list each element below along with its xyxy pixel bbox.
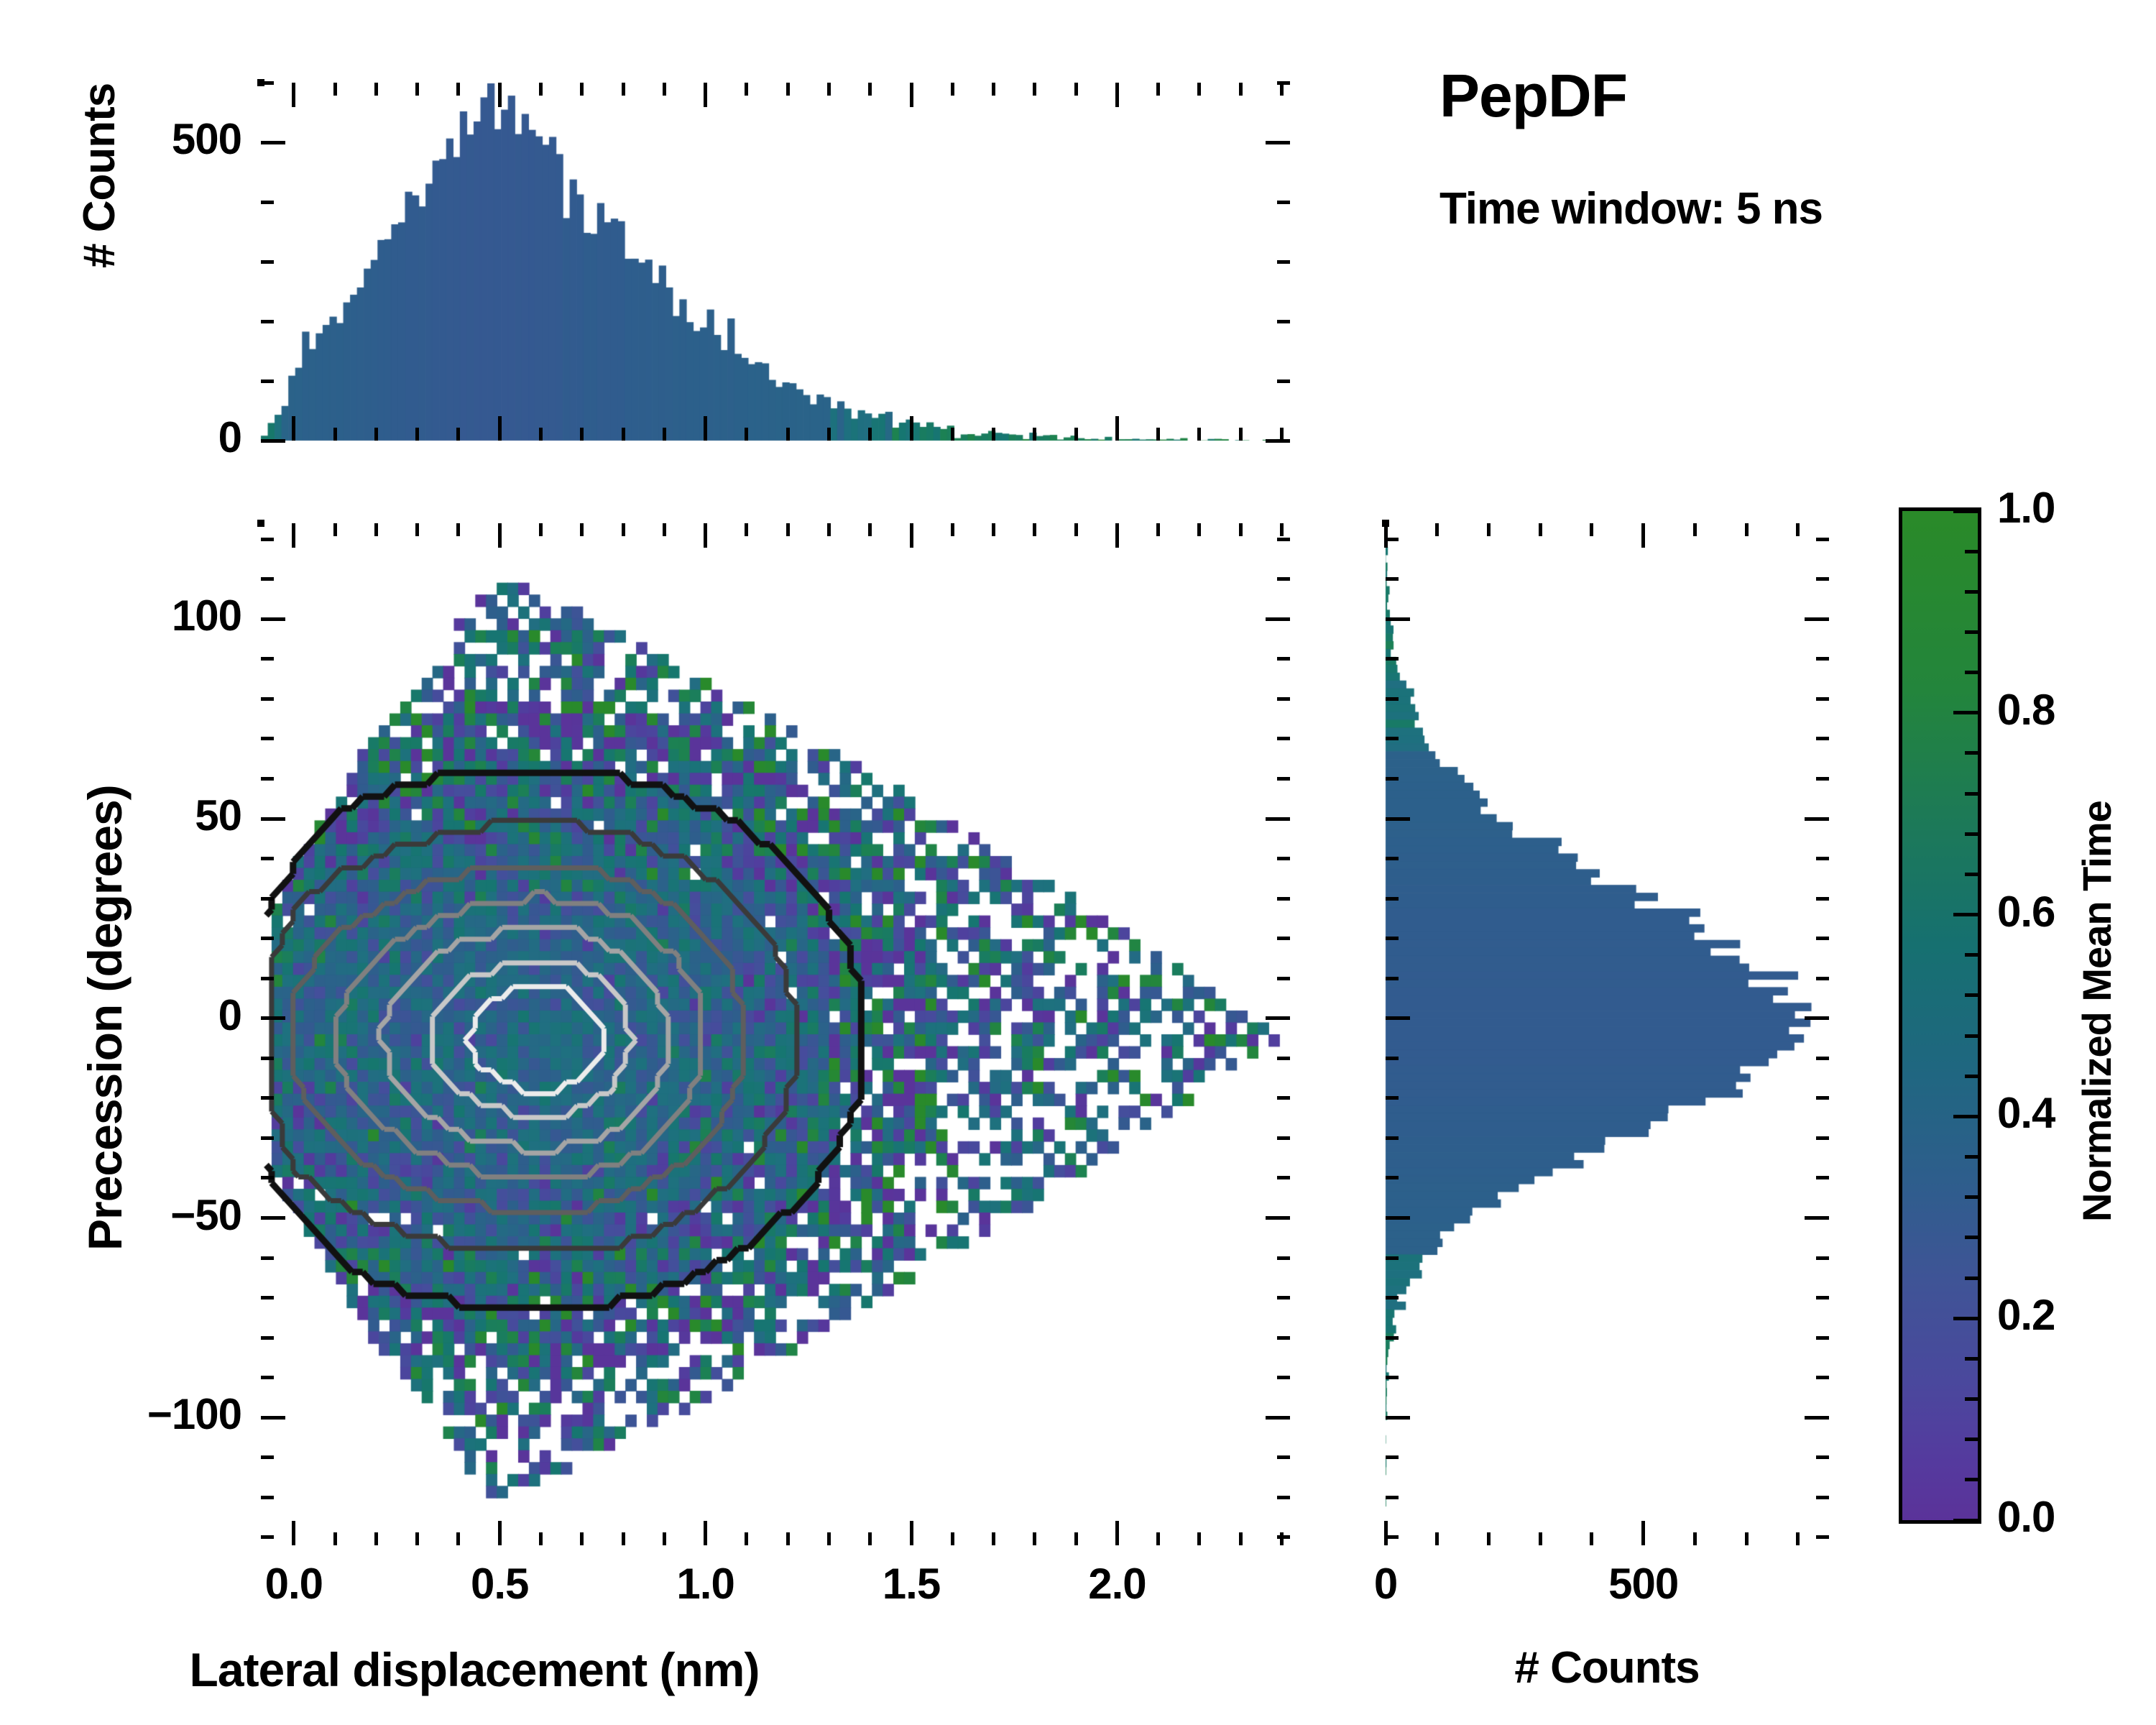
- tick-mark: [292, 1521, 295, 1545]
- tick-mark: [1435, 523, 1439, 536]
- tick-mark: [1277, 1256, 1290, 1260]
- tick-mark: [1384, 1521, 1388, 1545]
- tick-mark: [910, 416, 913, 441]
- tick-mark: [498, 83, 502, 107]
- tick-mark: [580, 83, 584, 96]
- tick-mark: [1386, 1416, 1410, 1420]
- tick-mark: [333, 1532, 337, 1545]
- side-histogram-x-axis-title: # Counts: [1514, 1642, 1699, 1693]
- tick-mark: [868, 428, 872, 441]
- tick-mark: [786, 1532, 790, 1545]
- tick-mark: [1115, 416, 1119, 441]
- tick-mark: [1953, 913, 1978, 916]
- tick-mark: [1386, 577, 1399, 581]
- tick-mark: [456, 428, 460, 441]
- tick-mark: [1277, 1535, 1290, 1539]
- tick-mark: [261, 1296, 274, 1299]
- tick-label: 0.4: [1997, 1088, 2055, 1138]
- tick-mark: [1816, 538, 1829, 541]
- tick-mark: [1386, 1455, 1399, 1459]
- tick-label: 1.5: [883, 1559, 940, 1609]
- top-histogram-y-axis-title: # Counts: [74, 83, 125, 268]
- tick-mark: [456, 83, 460, 96]
- tick-mark: [1277, 379, 1290, 383]
- tick-mark: [374, 428, 378, 441]
- tick-label: 2.0: [1088, 1559, 1146, 1609]
- tick-mark: [1965, 1437, 1978, 1441]
- tick-mark: [580, 428, 584, 441]
- tick-mark: [1693, 523, 1697, 536]
- tick-mark: [745, 523, 748, 536]
- tick-mark: [786, 83, 790, 96]
- tick-mark: [1277, 697, 1290, 701]
- tick-mark: [1539, 1532, 1542, 1545]
- tick-mark: [1805, 1216, 1829, 1220]
- tick-mark: [1386, 1057, 1399, 1060]
- colorbar: [1899, 507, 1981, 1524]
- top-histogram-plot: [257, 79, 1294, 444]
- tick-mark: [1277, 260, 1290, 264]
- tick-mark: [1033, 83, 1036, 96]
- tick-mark: [992, 83, 995, 96]
- tick-mark: [1965, 832, 1978, 836]
- tick-mark: [1115, 1521, 1119, 1545]
- tick-mark: [1386, 857, 1399, 860]
- tick-mark: [539, 83, 543, 96]
- tick-mark: [1816, 1096, 1829, 1100]
- tick-mark: [261, 737, 274, 740]
- tick-mark: [1816, 737, 1829, 740]
- tick-mark: [951, 523, 954, 536]
- tick-mark: [827, 428, 831, 441]
- tick-mark: [951, 1532, 954, 1545]
- tick-mark: [1386, 1136, 1399, 1140]
- tick-mark: [261, 937, 274, 940]
- tick-mark: [868, 83, 872, 96]
- joint-y-axis-title: Precession (degrees): [78, 785, 132, 1251]
- tick-label: −50: [170, 1190, 241, 1240]
- tick-mark: [261, 697, 274, 701]
- tick-label: 0: [218, 413, 241, 462]
- tick-mark: [261, 1096, 274, 1100]
- tick-mark: [1280, 428, 1284, 441]
- tick-mark: [261, 201, 274, 204]
- tick-mark: [261, 1535, 274, 1539]
- tick-mark: [415, 523, 419, 536]
- tick-mark: [1816, 1057, 1829, 1060]
- tick-mark: [1197, 1532, 1201, 1545]
- tick-mark: [1386, 1296, 1399, 1299]
- tick-mark: [1386, 657, 1399, 661]
- tick-label: 1.0: [1997, 483, 2055, 533]
- tick-mark: [261, 260, 274, 264]
- tick-label: 0.5: [471, 1559, 528, 1609]
- tick-mark: [374, 523, 378, 536]
- tick-mark: [261, 81, 274, 85]
- tick-mark: [1074, 523, 1078, 536]
- tick-mark: [1239, 523, 1243, 536]
- tick-mark: [1277, 1176, 1290, 1179]
- tick-mark: [1277, 1096, 1290, 1100]
- tick-mark: [1277, 617, 1290, 621]
- tick-mark: [1816, 1455, 1829, 1459]
- tick-mark: [261, 577, 274, 581]
- tick-mark: [1539, 523, 1542, 536]
- tick-mark: [1277, 1336, 1290, 1340]
- tick-mark: [261, 1416, 285, 1420]
- tick-mark: [745, 1532, 748, 1545]
- colorbar-title: Normalized Mean Time: [2073, 801, 2120, 1222]
- tick-mark: [1277, 538, 1290, 541]
- tick-label: 0.2: [1997, 1290, 2055, 1340]
- tick-mark: [1384, 523, 1388, 548]
- tick-mark: [1277, 1496, 1290, 1499]
- tick-mark: [992, 428, 995, 441]
- tick-mark: [1277, 897, 1290, 901]
- joint-x-axis-title: Lateral displacement (nm): [190, 1642, 760, 1697]
- tick-mark: [1965, 751, 1978, 755]
- tick-mark: [261, 320, 274, 323]
- tick-mark: [1386, 1216, 1410, 1220]
- tick-mark: [292, 83, 295, 107]
- tick-mark: [1965, 1478, 1978, 1481]
- tick-mark: [868, 1532, 872, 1545]
- tick-mark: [1386, 937, 1399, 940]
- tick-mark: [1277, 937, 1290, 940]
- tick-mark: [1277, 320, 1290, 323]
- tick-mark: [1965, 792, 1978, 796]
- tick-mark: [622, 428, 625, 441]
- tick-mark: [1745, 1532, 1749, 1545]
- tick-mark: [827, 523, 831, 536]
- tick-mark: [1277, 657, 1290, 661]
- tick-mark: [261, 439, 285, 443]
- tick-mark: [1816, 1136, 1829, 1140]
- tick-mark: [1386, 777, 1399, 781]
- tick-mark: [622, 523, 625, 536]
- top-histogram-panel: [257, 79, 1294, 444]
- tick-mark: [745, 428, 748, 441]
- tick-mark: [292, 416, 295, 441]
- tick-mark: [1965, 1155, 1978, 1159]
- tick-mark: [333, 428, 337, 441]
- tick-mark: [1816, 937, 1829, 940]
- tick-mark: [1277, 1376, 1290, 1379]
- tick-mark: [1386, 897, 1399, 901]
- tick-mark: [1965, 1276, 1978, 1280]
- tick-mark: [1033, 428, 1036, 441]
- tick-mark: [374, 83, 378, 96]
- tick-mark: [1816, 777, 1829, 781]
- tick-label: 0.8: [1997, 685, 2055, 735]
- tick-mark: [1239, 428, 1243, 441]
- tick-label: 0: [1374, 1559, 1397, 1609]
- tick-mark: [704, 83, 707, 107]
- tick-mark: [1386, 1176, 1399, 1179]
- tick-mark: [456, 1532, 460, 1545]
- tick-mark: [498, 523, 502, 548]
- tick-mark: [1386, 1376, 1399, 1379]
- tick-mark: [1239, 1532, 1243, 1545]
- tick-mark: [951, 428, 954, 441]
- tick-mark: [1277, 201, 1290, 204]
- tick-mark: [261, 1057, 274, 1060]
- tick-mark: [663, 83, 666, 96]
- tick-mark: [374, 1532, 378, 1545]
- tick-label: 1.0: [676, 1559, 734, 1609]
- tick-mark: [1805, 817, 1829, 821]
- tick-mark: [1115, 523, 1119, 548]
- tick-mark: [1435, 1532, 1439, 1545]
- tick-mark: [1277, 857, 1290, 860]
- tick-mark: [663, 428, 666, 441]
- tick-mark: [1266, 439, 1290, 443]
- tick-mark: [261, 1376, 274, 1379]
- tick-mark: [1965, 630, 1978, 634]
- joint-heatmap-plot: [257, 520, 1294, 1549]
- tick-mark: [1816, 617, 1829, 621]
- tick-mark: [1277, 777, 1290, 781]
- tick-mark: [1197, 428, 1201, 441]
- tick-mark: [261, 1136, 274, 1140]
- tick-mark: [333, 523, 337, 536]
- tick-mark: [1386, 697, 1399, 701]
- tick-mark: [261, 1216, 285, 1220]
- tick-mark: [1280, 83, 1284, 96]
- tick-mark: [663, 1532, 666, 1545]
- tick-mark: [1816, 1535, 1829, 1539]
- tick-mark: [1156, 83, 1160, 96]
- tick-mark: [1816, 1256, 1829, 1260]
- tick-mark: [1953, 1519, 1978, 1522]
- tick-mark: [261, 1455, 274, 1459]
- figure-title: PepDF: [1439, 61, 1627, 131]
- tick-mark: [1074, 83, 1078, 96]
- tick-mark: [1386, 617, 1399, 621]
- tick-mark: [1266, 817, 1290, 821]
- tick-mark: [1386, 1256, 1399, 1260]
- tick-mark: [1816, 577, 1829, 581]
- tick-mark: [704, 523, 707, 548]
- tick-mark: [1965, 953, 1978, 957]
- tick-mark: [261, 1336, 274, 1340]
- tick-mark: [622, 83, 625, 96]
- tick-mark: [1074, 1532, 1078, 1545]
- tick-mark: [539, 1532, 543, 1545]
- tick-mark: [1816, 897, 1829, 901]
- tick-mark: [415, 1532, 419, 1545]
- tick-mark: [868, 523, 872, 536]
- tick-mark: [663, 523, 666, 536]
- tick-mark: [261, 617, 274, 621]
- tick-label: 500: [1608, 1559, 1678, 1609]
- tick-mark: [261, 857, 274, 860]
- tick-mark: [580, 523, 584, 536]
- tick-mark: [1156, 523, 1160, 536]
- tick-mark: [1816, 1296, 1829, 1299]
- tick-label: 0.6: [1997, 887, 2055, 937]
- tick-mark: [261, 1176, 274, 1179]
- tick-mark: [1115, 83, 1119, 107]
- tick-mark: [1796, 1532, 1800, 1545]
- joint-heatmap-panel: [257, 520, 1294, 1549]
- tick-mark: [1266, 1216, 1290, 1220]
- tick-mark: [704, 416, 707, 441]
- tick-mark: [261, 777, 274, 781]
- tick-mark: [1965, 1397, 1978, 1401]
- figure-canvas: 0500 # Counts PepDF Time window: 5 ns 0.…: [0, 0, 2156, 1725]
- tick-mark: [261, 657, 274, 661]
- tick-mark: [1386, 1096, 1399, 1100]
- tick-mark: [1816, 697, 1829, 701]
- tick-mark: [1816, 857, 1829, 860]
- tick-mark: [951, 83, 954, 96]
- tick-label: −100: [147, 1389, 241, 1439]
- tick-mark: [1487, 1532, 1491, 1545]
- tick-mark: [910, 1521, 913, 1545]
- tick-mark: [1277, 1455, 1290, 1459]
- tick-mark: [1816, 1496, 1829, 1499]
- tick-label: 500: [172, 114, 241, 164]
- tick-mark: [992, 523, 995, 536]
- tick-mark: [333, 83, 337, 96]
- tick-mark: [1965, 993, 1978, 997]
- figure-subtitle: Time window: 5 ns: [1439, 183, 1823, 234]
- tick-mark: [1277, 577, 1290, 581]
- tick-mark: [261, 1256, 274, 1260]
- tick-mark: [1816, 1336, 1829, 1340]
- tick-mark: [1277, 1057, 1290, 1060]
- tick-mark: [292, 523, 295, 548]
- tick-mark: [1386, 538, 1399, 541]
- tick-mark: [1965, 1236, 1978, 1239]
- tick-mark: [1487, 523, 1491, 536]
- tick-mark: [1953, 711, 1978, 714]
- tick-mark: [1965, 873, 1978, 876]
- tick-label: 0.0: [1997, 1492, 2055, 1542]
- tick-mark: [786, 428, 790, 441]
- tick-mark: [827, 83, 831, 96]
- tick-mark: [539, 523, 543, 536]
- tick-mark: [1277, 737, 1290, 740]
- tick-mark: [1266, 1416, 1290, 1420]
- tick-mark: [1590, 523, 1593, 536]
- tick-mark: [415, 428, 419, 441]
- tick-label: 0.0: [265, 1559, 323, 1609]
- side-histogram-plot: [1382, 520, 1833, 1549]
- tick-mark: [580, 1532, 584, 1545]
- tick-mark: [1953, 510, 1978, 513]
- tick-mark: [1953, 1317, 1978, 1320]
- tick-mark: [261, 817, 285, 821]
- tick-mark: [622, 1532, 625, 1545]
- side-histogram-panel: [1382, 520, 1833, 1549]
- tick-mark: [1590, 1532, 1593, 1545]
- tick-label: 0: [218, 990, 241, 1040]
- tick-mark: [1965, 1195, 1978, 1199]
- tick-mark: [261, 897, 274, 901]
- tick-mark: [1693, 1532, 1697, 1545]
- tick-mark: [1805, 1016, 1829, 1020]
- tick-mark: [1386, 1535, 1399, 1539]
- tick-mark: [415, 83, 419, 96]
- tick-mark: [1033, 523, 1036, 536]
- tick-mark: [1386, 1496, 1399, 1499]
- tick-mark: [1074, 428, 1078, 441]
- tick-mark: [745, 83, 748, 96]
- tick-mark: [498, 1521, 502, 1545]
- tick-mark: [992, 1532, 995, 1545]
- tick-mark: [1816, 977, 1829, 980]
- tick-mark: [1965, 1034, 1978, 1038]
- tick-mark: [1386, 817, 1410, 821]
- tick-mark: [261, 141, 274, 144]
- tick-mark: [1266, 1016, 1290, 1020]
- tick-mark: [1277, 977, 1290, 980]
- tick-mark: [1805, 1416, 1829, 1420]
- tick-mark: [1796, 523, 1800, 536]
- tick-mark: [261, 1016, 285, 1020]
- tick-mark: [539, 428, 543, 441]
- tick-mark: [261, 538, 274, 541]
- tick-mark: [1156, 1532, 1160, 1545]
- tick-mark: [1965, 1357, 1978, 1361]
- tick-mark: [1197, 523, 1201, 536]
- tick-mark: [1816, 657, 1829, 661]
- tick-mark: [498, 416, 502, 441]
- tick-mark: [910, 83, 913, 107]
- tick-mark: [1641, 1532, 1645, 1545]
- tick-mark: [1965, 550, 1978, 553]
- tick-mark: [1033, 1532, 1036, 1545]
- colorbar-frame: [1899, 507, 1981, 1524]
- tick-mark: [1965, 671, 1978, 674]
- tick-mark: [1277, 1296, 1290, 1299]
- tick-mark: [910, 523, 913, 548]
- tick-label: 50: [195, 791, 241, 840]
- tick-mark: [786, 523, 790, 536]
- tick-mark: [704, 1521, 707, 1545]
- tick-mark: [1386, 737, 1399, 740]
- tick-mark: [1816, 1376, 1829, 1379]
- tick-mark: [261, 379, 274, 383]
- tick-mark: [1953, 1115, 1978, 1118]
- tick-mark: [827, 1532, 831, 1545]
- tick-mark: [1156, 428, 1160, 441]
- tick-mark: [456, 523, 460, 536]
- tick-mark: [1641, 523, 1645, 536]
- tick-mark: [1745, 523, 1749, 536]
- tick-mark: [1386, 1336, 1399, 1340]
- tick-mark: [1277, 141, 1290, 144]
- tick-mark: [1386, 1016, 1410, 1020]
- tick-mark: [1280, 523, 1284, 536]
- tick-mark: [1965, 590, 1978, 594]
- tick-mark: [1197, 83, 1201, 96]
- tick-mark: [1277, 1136, 1290, 1140]
- tick-label: 100: [172, 591, 241, 640]
- tick-mark: [1965, 1075, 1978, 1078]
- tick-mark: [261, 1496, 274, 1499]
- tick-mark: [1239, 83, 1243, 96]
- tick-mark: [1386, 977, 1399, 980]
- tick-mark: [261, 977, 274, 980]
- tick-mark: [1816, 1176, 1829, 1179]
